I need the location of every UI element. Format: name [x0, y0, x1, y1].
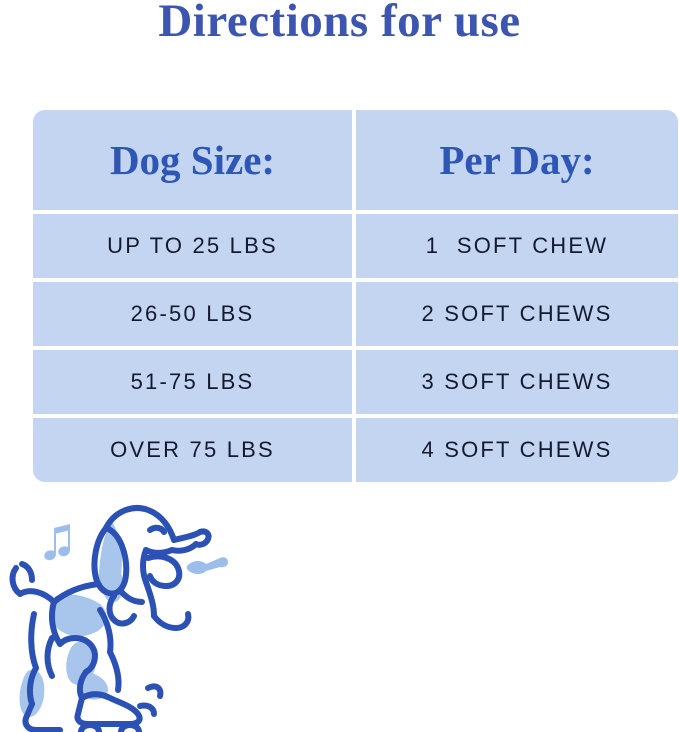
table-header-label-dog-size: Dog Size:	[110, 136, 275, 184]
table-cell-per-day: 3 SOFT CHEWS	[356, 350, 678, 414]
table-cell-per-day: 2 SOFT CHEWS	[356, 282, 678, 346]
table-row: 51-75 LBS 3 SOFT CHEWS	[33, 350, 678, 414]
table-cell-dog-size: 26-50 LBS	[33, 282, 352, 346]
table-cell-value-dog-size: OVER 75 LBS	[110, 437, 275, 463]
music-note-icon	[44, 524, 70, 560]
table-cell-dog-size: OVER 75 LBS	[33, 418, 352, 482]
table-header-label-per-day: Per Day:	[439, 136, 594, 184]
table-row: UP TO 25 LBS 1 SOFT CHEW	[33, 214, 678, 278]
table-cell-dog-size: UP TO 25 LBS	[33, 214, 352, 278]
table-cell-value-per-day: 3 SOFT CHEWS	[421, 369, 612, 395]
table-header-row: Dog Size: Per Day:	[33, 110, 678, 210]
table-cell-value-dog-size: 51-75 LBS	[131, 369, 255, 395]
roller-skate-icon	[25, 686, 160, 732]
table-cell-value-per-day: 2 SOFT CHEWS	[421, 301, 612, 327]
page-title: Directions for use	[0, 0, 679, 48]
table-row: 26-50 LBS 2 SOFT CHEWS	[33, 282, 678, 346]
dancing-dog-illustration	[8, 492, 258, 732]
table-cell-per-day: 1 SOFT CHEW	[356, 214, 678, 278]
table-cell-per-day: 4 SOFT CHEWS	[356, 418, 678, 482]
directions-table: Dog Size: Per Day: UP TO 25 LBS 1 SOFT C…	[33, 110, 678, 488]
table-header-cell-per-day: Per Day:	[356, 110, 678, 210]
table-row: OVER 75 LBS 4 SOFT CHEWS	[33, 418, 678, 482]
table-cell-value-dog-size: 26-50 LBS	[131, 301, 255, 327]
table-cell-value-per-day: 1 SOFT CHEW	[426, 233, 608, 259]
table-header-cell-dog-size: Dog Size:	[33, 110, 352, 210]
table-cell-dog-size: 51-75 LBS	[33, 350, 352, 414]
table-cell-value-per-day: 4 SOFT CHEWS	[421, 437, 612, 463]
bone-icon	[187, 557, 228, 574]
table-cell-value-dog-size: UP TO 25 LBS	[107, 233, 278, 259]
